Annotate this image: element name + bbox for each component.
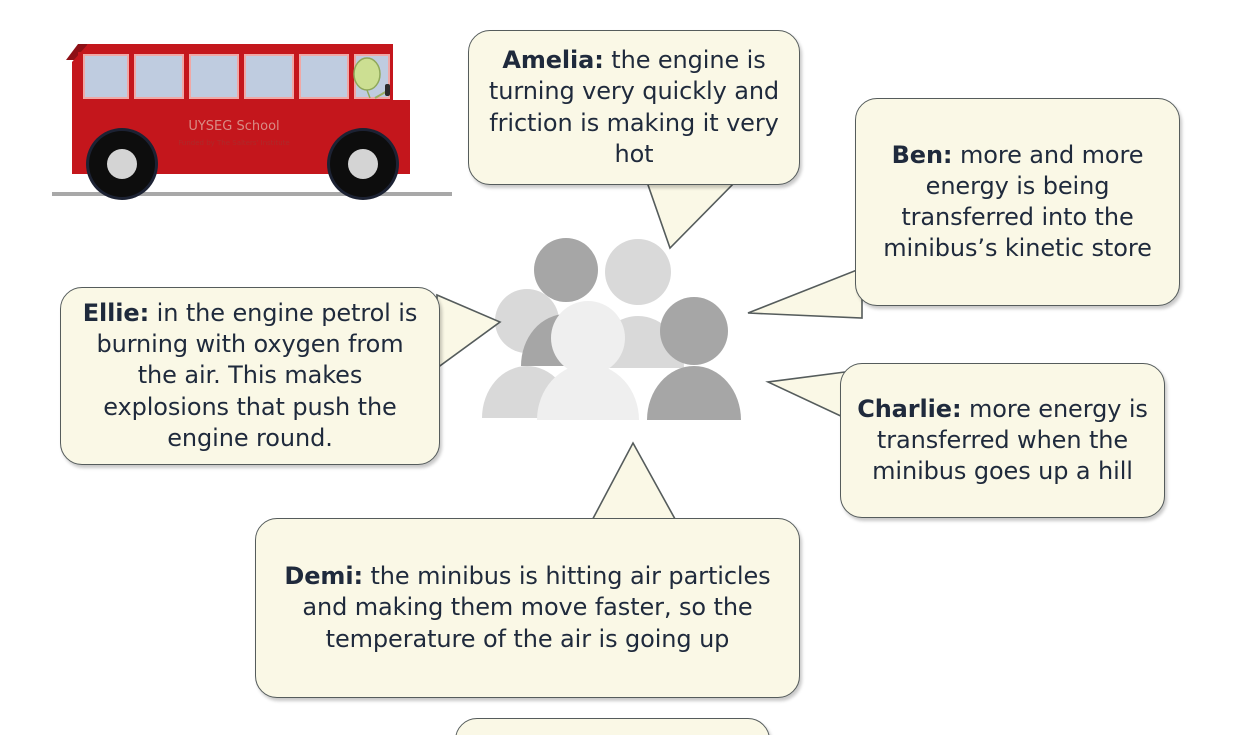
tail-charlie <box>768 372 845 418</box>
speaker-name-charlie: Charlie: <box>857 395 961 423</box>
speech-bubble-ben[interactable]: Ben: more and more energy is being trans… <box>855 98 1180 306</box>
bus-window <box>84 55 128 98</box>
student-group-illustration <box>470 228 770 458</box>
bubble-text-charlie: Charlie: more energy is transferred when… <box>855 394 1150 488</box>
bus-wheel-front <box>327 128 399 200</box>
speech-content-demi: the minibus is hitting air particles and… <box>302 562 770 652</box>
bus-livery-subtitle: Funded by The Salters' Institute <box>178 139 289 147</box>
speech-bubble-amelia[interactable]: Amelia: the engine is turning very quick… <box>468 30 800 185</box>
bubble-text-demi: Demi: the minibus is hitting air particl… <box>270 561 785 655</box>
diagram-canvas: UYSEG School Funded by The Salters' Inst… <box>0 0 1239 735</box>
speaker-name-demi: Demi: <box>284 562 363 590</box>
speaker-name-ben: Ben: <box>892 141 953 169</box>
bus-wheel-rear <box>86 128 158 200</box>
bubble-text-amelia: Amelia: the engine is turning very quick… <box>483 45 785 170</box>
speech-bubble-ellie[interactable]: Ellie: in the engine petrol is burning w… <box>60 287 440 465</box>
minibus-svg: UYSEG School Funded by The Salters' Inst… <box>48 22 468 212</box>
bubble-text-ellie: Ellie: in the engine petrol is burning w… <box>75 298 425 454</box>
driver-head-icon <box>354 58 380 90</box>
speaker-name-amelia: Amelia: <box>502 46 603 74</box>
bus-window <box>245 55 293 98</box>
bus-livery-title: UYSEG School <box>188 119 279 134</box>
bus-window <box>300 55 348 98</box>
speech-bubble-charlie[interactable]: Charlie: more energy is transferred when… <box>840 363 1165 518</box>
steering-wheel-icon <box>385 84 390 96</box>
minibus-illustration: UYSEG School Funded by The Salters' Inst… <box>48 22 468 212</box>
speaker-name-ellie: Ellie: <box>83 299 149 327</box>
speech-bubble-extra[interactable] <box>455 718 770 735</box>
bus-window <box>190 55 238 98</box>
bus-window <box>135 55 183 98</box>
bubble-text-ben: Ben: more and more energy is being trans… <box>870 140 1165 265</box>
people-svg <box>470 228 770 458</box>
speech-bubble-demi[interactable]: Demi: the minibus is hitting air particl… <box>255 518 800 698</box>
